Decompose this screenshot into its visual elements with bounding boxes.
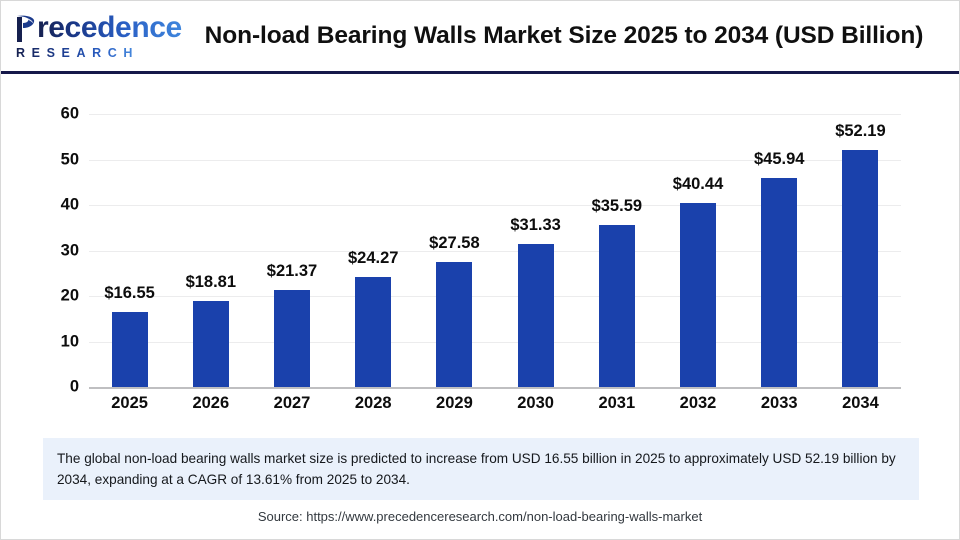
bar-group-2032[interactable]: $40.44 [657,74,738,387]
grid-and-bars: $16.55$18.81$21.37$24.27$27.58$31.33$35.… [89,74,901,434]
x-tick-2028: 2028 [333,394,414,420]
bar-group-2029[interactable]: $27.58 [414,74,495,387]
bar-group-2026[interactable]: $18.81 [170,74,251,387]
p-leaf-mark-icon [15,13,36,43]
bar-value-label-2028: $24.27 [333,249,414,268]
x-axis-line [89,387,901,389]
x-tick-2030: 2030 [495,394,576,420]
bar-value-label-2030: $31.33 [495,216,576,235]
footnote-box: The global non-load bearing walls market… [43,438,919,500]
bar-2026[interactable] [193,301,229,387]
x-tick-2025: 2025 [89,394,170,420]
bar-2032[interactable] [680,203,716,387]
logo-word: recedence [37,13,182,43]
x-tick-2026: 2026 [170,394,251,420]
x-tick-2031: 2031 [576,394,657,420]
precedence-research-logo: recedence RESEARCH [15,13,183,60]
bar-2029[interactable] [436,262,472,387]
bar-series: $16.55$18.81$21.37$24.27$27.58$31.33$35.… [89,74,901,387]
bar-group-2031[interactable]: $35.59 [576,74,657,387]
y-tick-0: 0 [39,378,79,397]
y-tick-10: 10 [39,332,79,351]
bar-value-label-2034: $52.19 [820,122,901,141]
bar-value-label-2032: $40.44 [657,175,738,194]
bar-group-2028[interactable]: $24.27 [333,74,414,387]
y-tick-60: 60 [39,105,79,124]
y-tick-40: 40 [39,196,79,215]
bar-value-label-2031: $35.59 [576,197,657,216]
bar-group-2030[interactable]: $31.33 [495,74,576,387]
bar-2027[interactable] [274,290,310,387]
y-tick-20: 20 [39,287,79,306]
bar-value-label-2025: $16.55 [89,284,170,303]
bar-value-label-2029: $27.58 [414,234,495,253]
x-tick-2029: 2029 [414,394,495,420]
bar-group-2025[interactable]: $16.55 [89,74,170,387]
bar-group-2034[interactable]: $52.19 [820,74,901,387]
logo-wordmark-row: recedence [15,13,182,43]
x-axis-tick-labels: 2025202620272028202920302031203220332034 [89,394,901,420]
bar-2025[interactable] [112,312,148,387]
y-axis-tick-labels: 0102030405060 [39,74,79,434]
bar-value-label-2026: $18.81 [170,273,251,292]
bar-2033[interactable] [761,178,797,387]
bar-group-2027[interactable]: $21.37 [251,74,332,387]
bar-value-label-2033: $45.94 [739,150,820,169]
bar-value-label-2027: $21.37 [251,262,332,281]
logo-subtitle: RESEARCH [16,46,139,60]
bar-2030[interactable] [518,244,554,387]
plot-area: 0102030405060 $16.55$18.81$21.37$24.27$2… [1,74,959,434]
chart-canvas: recedence RESEARCH Non-load Bearing Wall… [0,0,960,540]
x-tick-2032: 2032 [657,394,738,420]
bar-2028[interactable] [355,277,391,387]
bar-group-2033[interactable]: $45.94 [739,74,820,387]
chart-title: Non-load Bearing Walls Market Size 2025 … [183,22,959,50]
y-tick-50: 50 [39,150,79,169]
y-tick-30: 30 [39,241,79,260]
source-line: Source: https://www.precedenceresearch.c… [1,509,959,524]
x-tick-2027: 2027 [251,394,332,420]
x-tick-2034: 2034 [820,394,901,420]
chart-header: recedence RESEARCH Non-load Bearing Wall… [1,1,959,74]
x-tick-2033: 2033 [739,394,820,420]
bar-2031[interactable] [599,225,635,387]
bar-2034[interactable] [842,150,878,387]
